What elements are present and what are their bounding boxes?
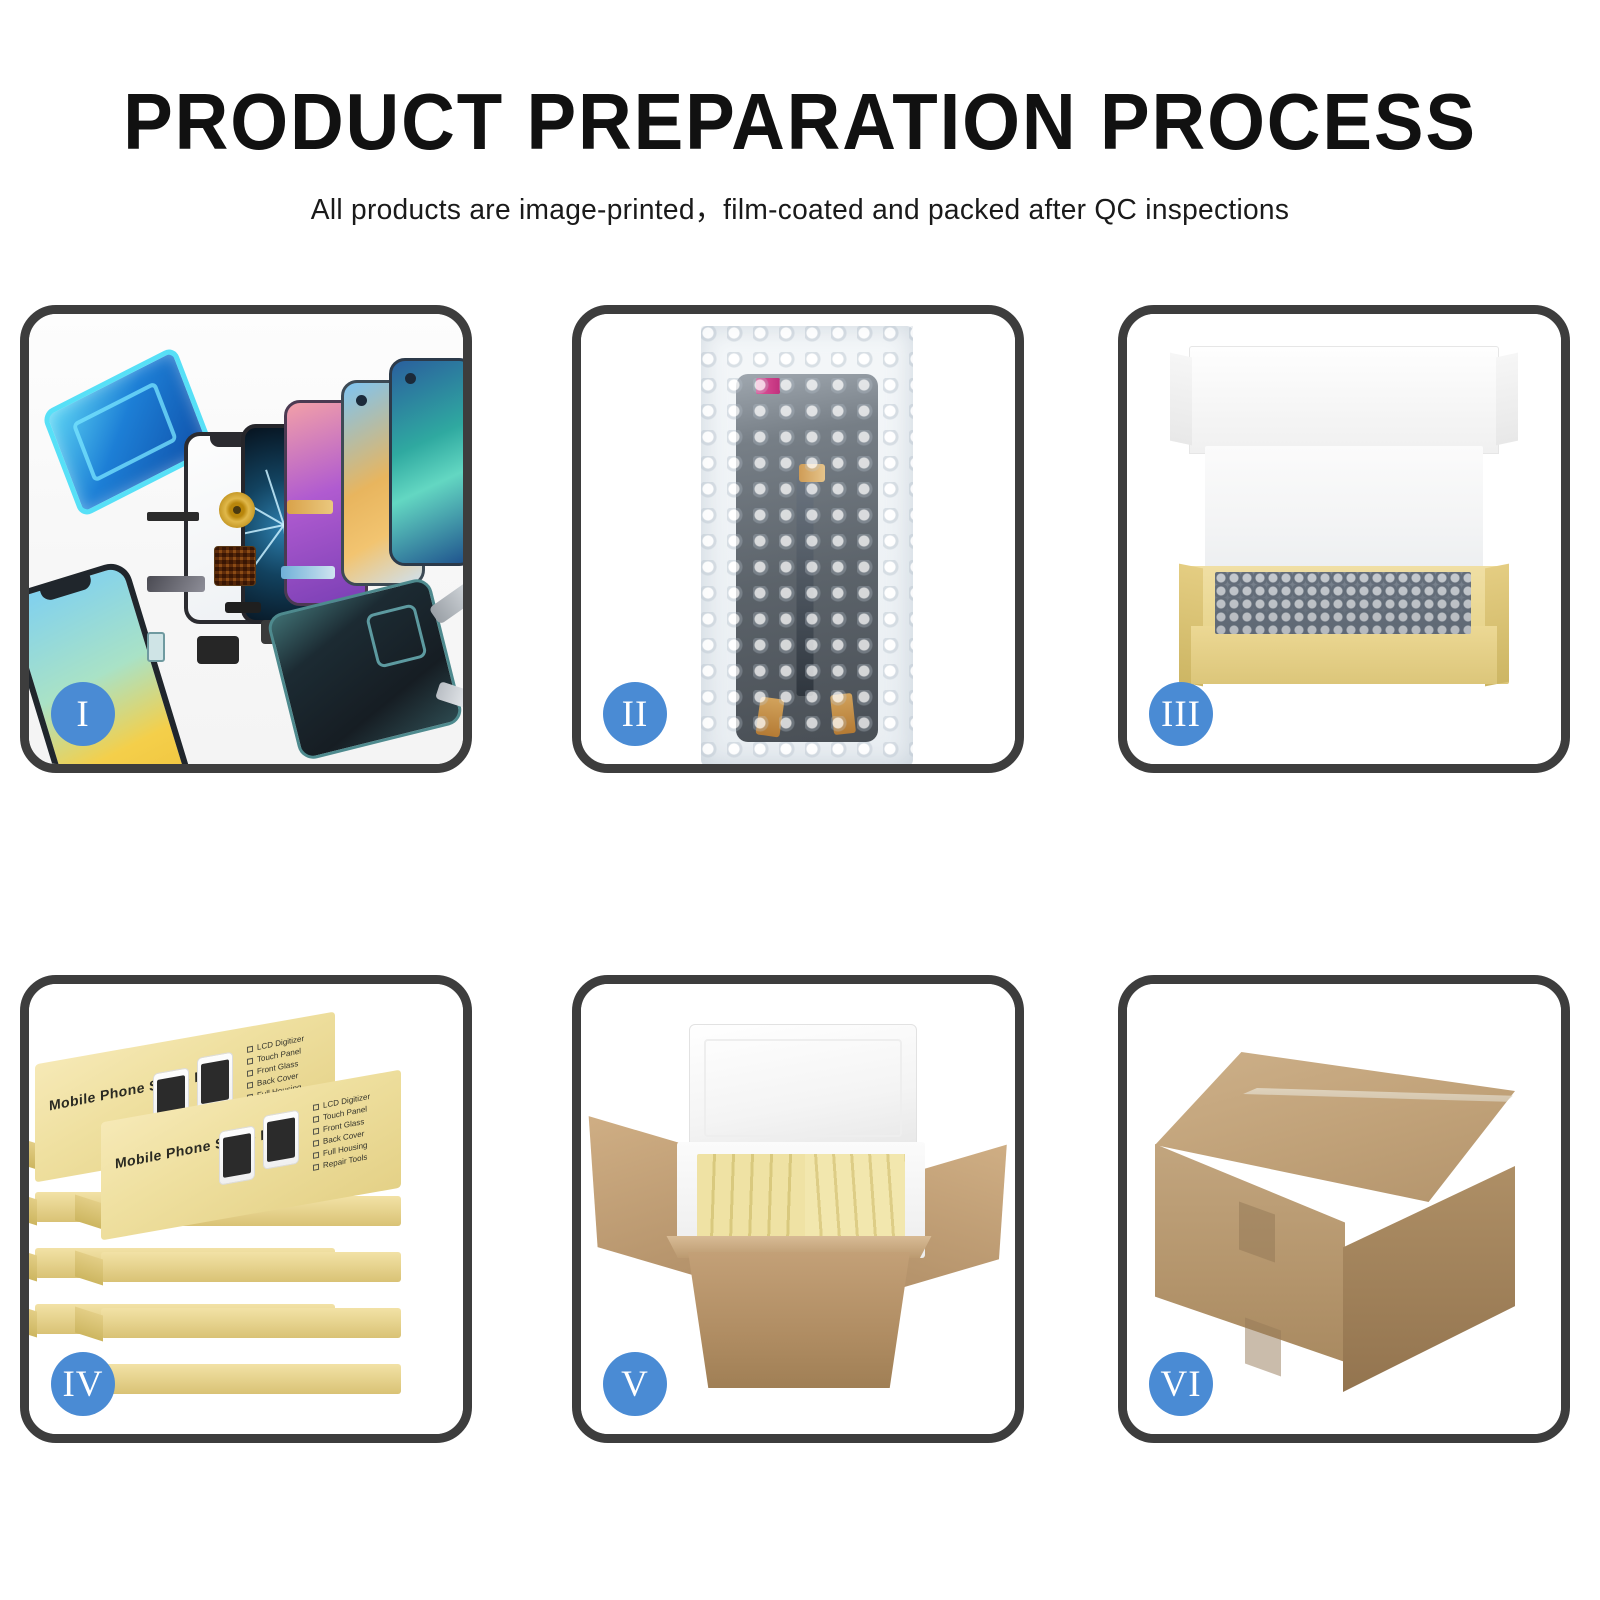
- gray-bubble-wrap-layer: [1215, 572, 1471, 634]
- retail-box-layer: [101, 1364, 401, 1394]
- tray-front-panel: [1191, 626, 1497, 684]
- carton-body: [673, 1252, 925, 1388]
- retail-box-layer: [101, 1308, 401, 1338]
- checkbox-icon: [313, 1116, 319, 1123]
- process-step-card-1: I: [20, 305, 472, 773]
- flex-cable-blue-part: [281, 566, 335, 579]
- box-side: [29, 1246, 37, 1281]
- teal-display-part: [389, 358, 463, 566]
- bubble-wrap-sleeve: [701, 326, 913, 764]
- box-lid-flap: [1189, 346, 1499, 454]
- styrofoam-lid: [689, 1024, 917, 1152]
- box-phone-image: [219, 1125, 255, 1185]
- process-step-card-6: VI: [1118, 975, 1570, 1443]
- box-side: [29, 1302, 37, 1337]
- checkbox-icon: [247, 1070, 253, 1077]
- step-badge-4: IV: [51, 1352, 115, 1416]
- process-step-card-5: V: [572, 975, 1024, 1443]
- step-badge-1: I: [51, 682, 115, 746]
- packed-retail-boxes: [697, 1154, 905, 1240]
- flex-cable-gray-part: [147, 576, 205, 592]
- loudspeaker-part: [197, 636, 239, 664]
- checkbox-icon: [313, 1140, 319, 1147]
- white-foam-sheet: [1205, 446, 1483, 576]
- step-badge-6: VI: [1149, 1352, 1213, 1416]
- step-badge-5: V: [603, 1352, 667, 1416]
- punch-hole-camera-icon: [356, 395, 367, 406]
- ic-chip-part: [214, 546, 256, 586]
- box-phone-image: [263, 1110, 299, 1170]
- punch-hole-camera-icon: [405, 373, 416, 384]
- checkbox-icon: [313, 1128, 319, 1135]
- wireless-charging-coil-part: [219, 492, 255, 528]
- earpiece-speaker-part: [147, 512, 199, 521]
- checkbox-icon: [247, 1058, 253, 1065]
- bubble-texture-overlay: [701, 326, 913, 764]
- checkbox-icon: [313, 1104, 319, 1111]
- sim-tray-part: [147, 632, 165, 662]
- checkbox-icon: [313, 1152, 319, 1159]
- infographic-page: PRODUCT PREPARATION PROCESS All products…: [0, 0, 1600, 1600]
- process-step-card-2: II: [572, 305, 1024, 773]
- checkbox-icon: [247, 1082, 253, 1089]
- process-step-card-3: III: [1118, 305, 1570, 773]
- retail-box-layer: [101, 1252, 401, 1282]
- step-badge-3: III: [1149, 682, 1213, 746]
- step-badge-2: II: [603, 682, 667, 746]
- flex-cable-gold-part: [287, 500, 333, 514]
- box-side: [29, 1190, 37, 1225]
- process-steps-grid: I II: [0, 0, 1600, 1600]
- checkbox-icon: [247, 1046, 253, 1053]
- button-flex-part: [225, 602, 261, 613]
- checkbox-icon: [313, 1164, 319, 1171]
- process-step-card-4: Mobile Phone Spare Parts LCD Digitizer T…: [20, 975, 472, 1443]
- box-checklist: LCD Digitizer Touch Panel Front Glass Ba…: [313, 1084, 409, 1173]
